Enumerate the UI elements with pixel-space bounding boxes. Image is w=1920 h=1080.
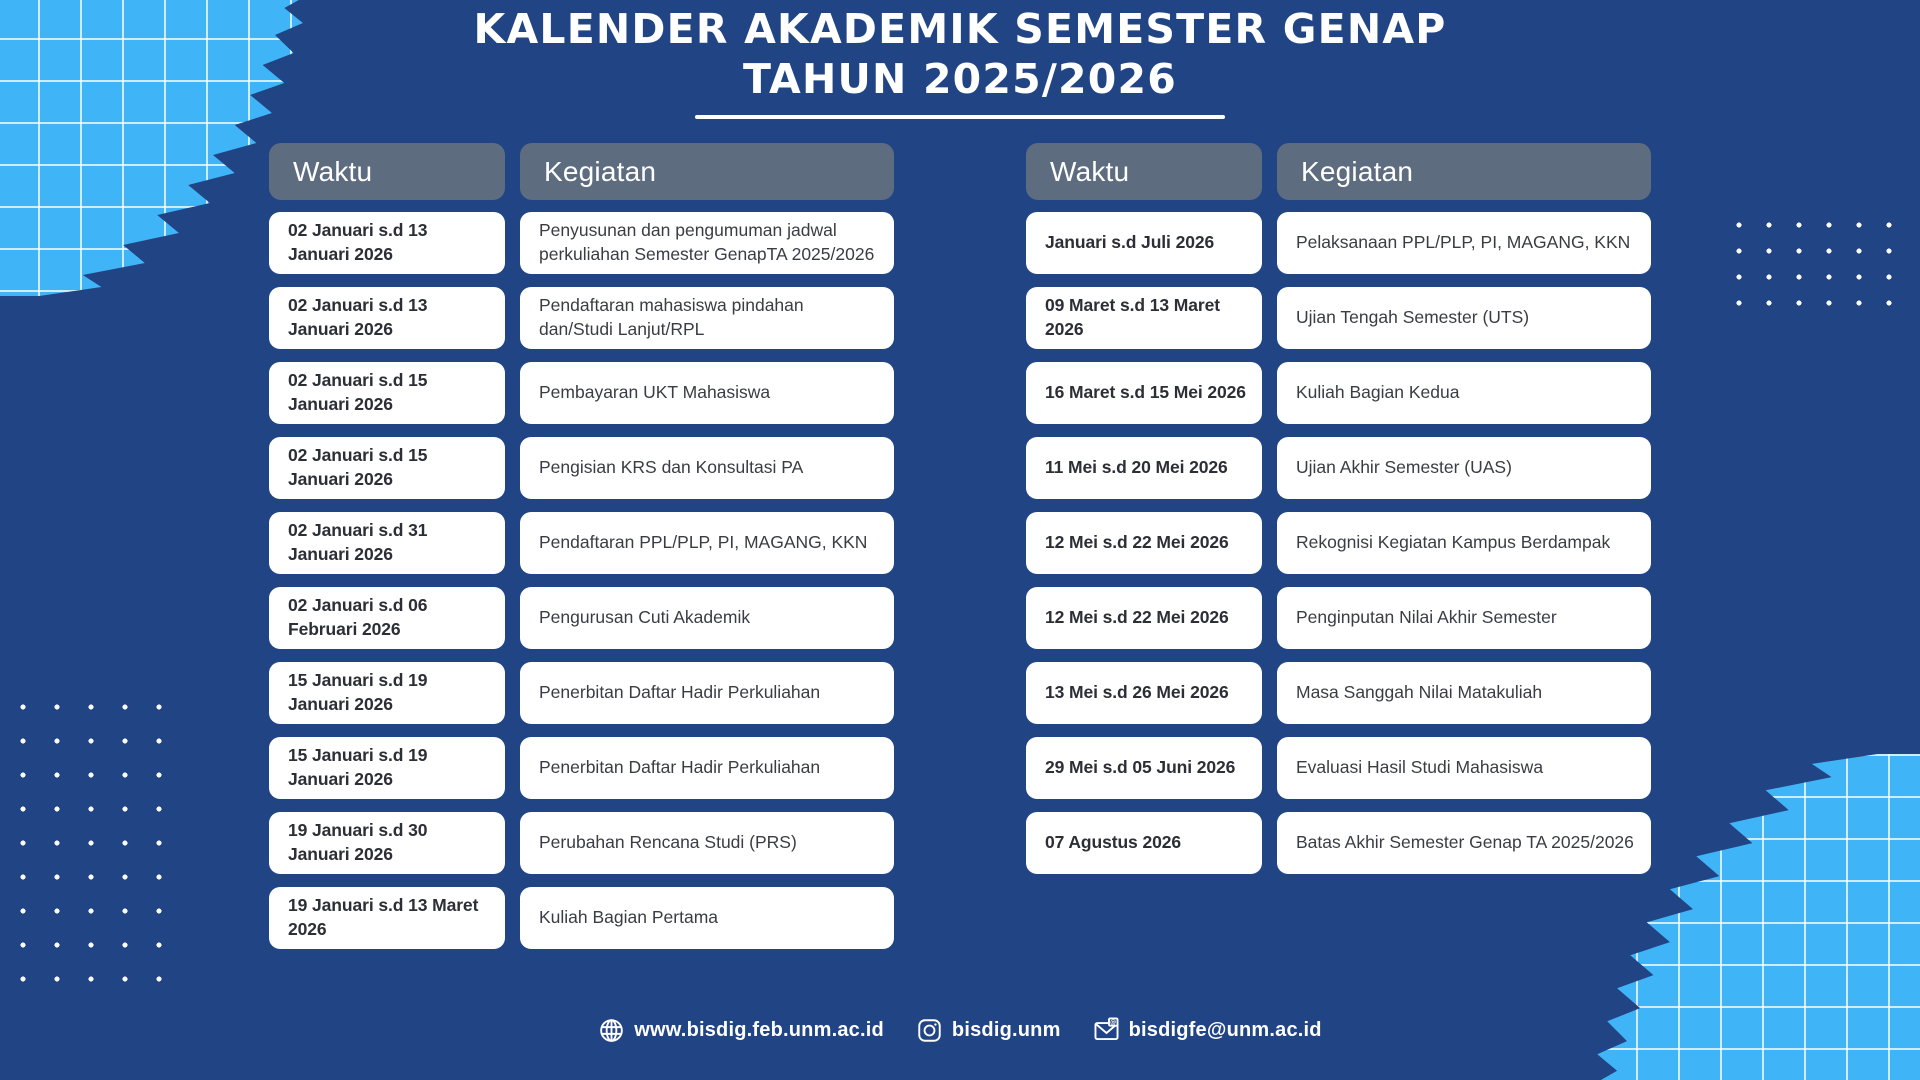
cell-kegiatan: Kuliah Bagian Kedua — [1277, 362, 1651, 424]
cell-kegiatan: Masa Sanggah Nilai Matakuliah — [1277, 662, 1651, 724]
title-underline — [695, 115, 1225, 119]
cell-waktu: 15 Januari s.d 19 Januari 2026 — [269, 662, 505, 724]
cell-waktu: 07 Agustus 2026 — [1026, 812, 1262, 874]
table-row: 16 Maret s.d 15 Mei 2026 Kuliah Bagian K… — [1026, 362, 1651, 424]
cell-waktu: 16 Maret s.d 15 Mei 2026 — [1026, 362, 1262, 424]
table-row: 11 Mei s.d 20 Mei 2026 Ujian Akhir Semes… — [1026, 437, 1651, 499]
table-row: 02 Januari s.d 31 Januari 2026 Pendaftar… — [269, 512, 894, 574]
cell-waktu: 29 Mei s.d 05 Juni 2026 — [1026, 737, 1262, 799]
footer-website-label: www.bisdig.feb.unm.ac.id — [634, 1019, 884, 1042]
calendar-table-left: Waktu Kegiatan 02 Januari s.d 13 Januari… — [269, 143, 894, 962]
cell-waktu: 15 Januari s.d 19 Januari 2026 — [269, 737, 505, 799]
table-row: 19 Januari s.d 30 Januari 2026 Perubahan… — [269, 812, 894, 874]
column-header-kegiatan: Kegiatan — [520, 143, 894, 200]
column-header-waktu: Waktu — [1026, 143, 1262, 200]
table-row: 29 Mei s.d 05 Juni 2026 Evaluasi Hasil S… — [1026, 737, 1651, 799]
cell-waktu: 09 Maret s.d 13 Maret 2026 — [1026, 287, 1262, 349]
cell-kegiatan: Penyusunan dan pengumuman jadwal perkuli… — [520, 212, 894, 274]
cell-kegiatan: Kuliah Bagian Pertama — [520, 887, 894, 949]
title-line-1: KALENDER AKADEMIK SEMESTER GENAP — [0, 4, 1920, 54]
instagram-icon — [916, 1017, 943, 1044]
cell-waktu: 02 Januari s.d 13 Januari 2026 — [269, 287, 505, 349]
cell-kegiatan: Pendaftaran PPL/PLP, PI, MAGANG, KKN — [520, 512, 894, 574]
footer-instagram-label: bisdig.unm — [952, 1019, 1061, 1042]
footer-instagram[interactable]: bisdig.unm — [916, 1017, 1061, 1044]
cell-waktu: 02 Januari s.d 06 Februari 2026 — [269, 587, 505, 649]
cell-waktu: 02 Januari s.d 15 Januari 2026 — [269, 437, 505, 499]
table-row: 09 Maret s.d 13 Maret 2026 Ujian Tengah … — [1026, 287, 1651, 349]
cell-waktu: 12 Mei s.d 22 Mei 2026 — [1026, 512, 1262, 574]
cell-waktu: 19 Januari s.d 30 Januari 2026 — [269, 812, 505, 874]
envelope-icon: @ — [1093, 1017, 1120, 1044]
cell-kegiatan: Penginputan Nilai Akhir Semester — [1277, 587, 1651, 649]
cell-waktu: 02 Januari s.d 15 Januari 2026 — [269, 362, 505, 424]
table-row: 07 Agustus 2026 Batas Akhir Semester Gen… — [1026, 812, 1651, 874]
cell-waktu: 02 Januari s.d 13 Januari 2026 — [269, 212, 505, 274]
table-row: 02 Januari s.d 15 Januari 2026 Pengisian… — [269, 437, 894, 499]
cell-kegiatan: Penerbitan Daftar Hadir Perkuliahan — [520, 737, 894, 799]
cell-kegiatan: Rekognisi Kegiatan Kampus Berdampak — [1277, 512, 1651, 574]
cell-kegiatan: Penerbitan Daftar Hadir Perkuliahan — [520, 662, 894, 724]
column-header-kegiatan: Kegiatan — [1277, 143, 1651, 200]
cell-waktu: Januari s.d Juli 2026 — [1026, 212, 1262, 274]
cell-kegiatan: Ujian Tengah Semester (UTS) — [1277, 287, 1651, 349]
cell-waktu: 19 Januari s.d 13 Maret 2026 — [269, 887, 505, 949]
svg-text:@: @ — [1110, 1018, 1116, 1026]
cell-kegiatan: Perubahan Rencana Studi (PRS) — [520, 812, 894, 874]
cell-kegiatan: Ujian Akhir Semester (UAS) — [1277, 437, 1651, 499]
table-row: 13 Mei s.d 26 Mei 2026 Masa Sanggah Nila… — [1026, 662, 1651, 724]
table-row: 12 Mei s.d 22 Mei 2026 Penginputan Nilai… — [1026, 587, 1651, 649]
table-row: 19 Januari s.d 13 Maret 2026 Kuliah Bagi… — [269, 887, 894, 949]
cell-kegiatan: Pengisian KRS dan Konsultasi PA — [520, 437, 894, 499]
calendar-tables: Waktu Kegiatan 02 Januari s.d 13 Januari… — [0, 143, 1920, 962]
cell-kegiatan: Evaluasi Hasil Studi Mahasiswa — [1277, 737, 1651, 799]
table-row: 02 Januari s.d 13 Januari 2026 Pendaftar… — [269, 287, 894, 349]
cell-kegiatan: Pelaksanaan PPL/PLP, PI, MAGANG, KKN — [1277, 212, 1651, 274]
cell-waktu: 11 Mei s.d 20 Mei 2026 — [1026, 437, 1262, 499]
cell-waktu: 13 Mei s.d 26 Mei 2026 — [1026, 662, 1262, 724]
table-row: 02 Januari s.d 06 Februari 2026 Pengurus… — [269, 587, 894, 649]
cell-waktu: 02 Januari s.d 31 Januari 2026 — [269, 512, 505, 574]
footer-website[interactable]: www.bisdig.feb.unm.ac.id — [598, 1017, 884, 1044]
cell-kegiatan: Batas Akhir Semester Genap TA 2025/2026 — [1277, 812, 1651, 874]
table-header-row: Waktu Kegiatan — [1026, 143, 1651, 200]
globe-icon — [598, 1017, 625, 1044]
footer-email-label: bisdigfe@unm.ac.id — [1129, 1019, 1322, 1042]
cell-waktu: 12 Mei s.d 22 Mei 2026 — [1026, 587, 1262, 649]
cell-kegiatan: Pendaftaran mahasiswa pindahan dan/Studi… — [520, 287, 894, 349]
footer-email[interactable]: @ bisdigfe@unm.ac.id — [1093, 1017, 1322, 1044]
title-line-2: TAHUN 2025/2026 — [0, 54, 1920, 104]
table-header-row: Waktu Kegiatan — [269, 143, 894, 200]
table-row: 15 Januari s.d 19 Januari 2026 Penerbita… — [269, 737, 894, 799]
calendar-poster: KALENDER AKADEMIK SEMESTER GENAP TAHUN 2… — [0, 0, 1920, 1080]
table-row: 15 Januari s.d 19 Januari 2026 Penerbita… — [269, 662, 894, 724]
page-title: KALENDER AKADEMIK SEMESTER GENAP TAHUN 2… — [0, 4, 1920, 119]
cell-kegiatan: Pengurusan Cuti Akademik — [520, 587, 894, 649]
table-row: Januari s.d Juli 2026 Pelaksanaan PPL/PL… — [1026, 212, 1651, 274]
footer-contact-bar: www.bisdig.feb.unm.ac.id bisdig.unm @ — [0, 1017, 1920, 1044]
column-header-waktu: Waktu — [269, 143, 505, 200]
table-row: 12 Mei s.d 22 Mei 2026 Rekognisi Kegiata… — [1026, 512, 1651, 574]
calendar-table-right: Waktu Kegiatan Januari s.d Juli 2026 Pel… — [1026, 143, 1651, 962]
table-row: 02 Januari s.d 13 Januari 2026 Penyusuna… — [269, 212, 894, 274]
cell-kegiatan: Pembayaran UKT Mahasiswa — [520, 362, 894, 424]
table-row: 02 Januari s.d 15 Januari 2026 Pembayara… — [269, 362, 894, 424]
